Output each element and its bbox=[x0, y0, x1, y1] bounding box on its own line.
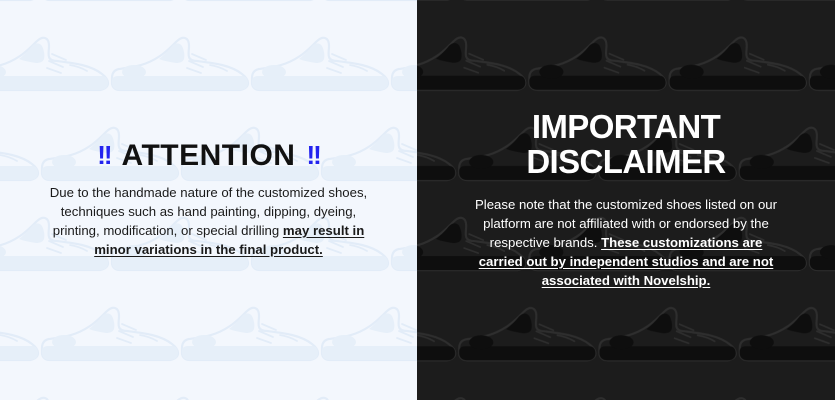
disclaimer-panel: IMPORTANT DISCLAIMER Please note that th… bbox=[417, 0, 835, 400]
attention-panel: !! ATTENTION !! Due to the handmade natu… bbox=[0, 0, 417, 400]
attention-content: !! ATTENTION !! Due to the handmade natu… bbox=[0, 0, 417, 400]
attention-title: ATTENTION bbox=[122, 141, 296, 172]
disclaimer-content: IMPORTANT DISCLAIMER Please note that th… bbox=[417, 0, 835, 400]
disclaimer-title-line1: IMPORTANT bbox=[526, 110, 725, 145]
disclaimer-headline: IMPORTANT DISCLAIMER bbox=[526, 110, 725, 180]
attention-body: Due to the handmade nature of the custom… bbox=[49, 184, 369, 259]
exclamation-left-icon: !! bbox=[97, 142, 110, 168]
disclaimer-banner: !! ATTENTION !! Due to the handmade natu… bbox=[0, 0, 835, 400]
disclaimer-body: Please note that the customized shoes li… bbox=[467, 195, 785, 291]
exclamation-right-icon: !! bbox=[306, 142, 319, 168]
attention-headline: !! ATTENTION !! bbox=[97, 141, 320, 172]
disclaimer-title-line2: DISCLAIMER bbox=[526, 145, 725, 180]
